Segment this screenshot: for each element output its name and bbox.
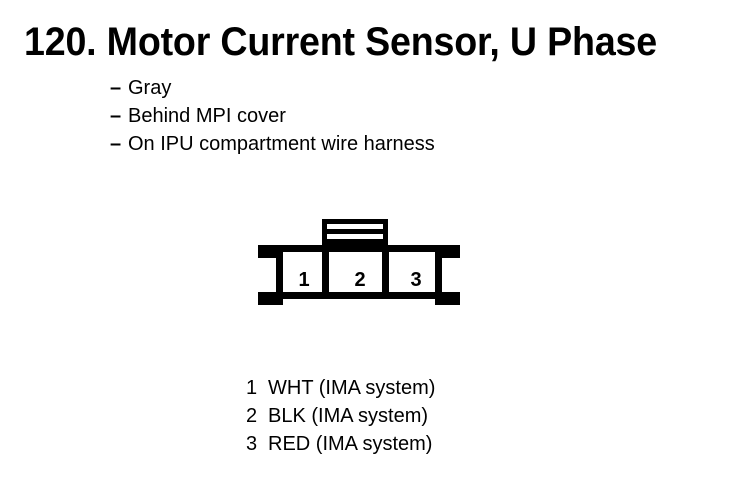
note-item: –Behind MPI cover (110, 102, 435, 130)
latch-slot (327, 234, 383, 239)
legend-pin-number: 3 (246, 430, 268, 458)
note-item-label: On IPU compartment wire harness (128, 133, 435, 155)
connector-pin-2-number: 2 (345, 270, 375, 290)
note-item: –On IPU compartment wire harness (110, 130, 435, 158)
legend-pin-number: 1 (246, 374, 268, 402)
cavity-divider (322, 245, 329, 298)
cavity-divider (382, 245, 389, 298)
wire-legend: 1WHT (IMA system) 2BLK (IMA system) 3RED… (246, 374, 435, 458)
cavity-bottom-rail (276, 292, 442, 299)
latch-tab (322, 219, 388, 245)
connector-diagram: 1 2 3 (255, 214, 463, 312)
legend-item: 2BLK (IMA system) (246, 402, 435, 430)
legend-item: 3RED (IMA system) (246, 430, 435, 458)
note-item-label: Behind MPI cover (128, 105, 286, 127)
connector-outline-drawing (255, 214, 463, 312)
connector-reference-page: 120. Motor Current Sensor, U Phase –Gray… (0, 0, 736, 498)
note-item-label: Gray (128, 77, 171, 99)
legend-wire-description: RED (IMA system) (268, 433, 432, 455)
legend-wire-description: BLK (IMA system) (268, 405, 428, 427)
connector-notes-list: –Gray –Behind MPI cover –On IPU compartm… (110, 74, 435, 158)
bullet-dash-icon: – (110, 102, 128, 130)
note-item: –Gray (110, 74, 435, 102)
page-title: 120. Motor Current Sensor, U Phase (24, 20, 657, 64)
left-foot-base (258, 299, 283, 305)
connector-pin-1-number: 1 (289, 270, 319, 290)
body-top-rail (258, 245, 460, 252)
right-foot-base (435, 299, 460, 305)
legend-wire-description: WHT (IMA system) (268, 377, 435, 399)
bullet-dash-icon: – (110, 130, 128, 158)
latch-slot (327, 224, 383, 229)
bullet-dash-icon: – (110, 74, 128, 102)
legend-pin-number: 2 (246, 402, 268, 430)
legend-item: 1WHT (IMA system) (246, 374, 435, 402)
connector-pin-3-number: 3 (401, 270, 431, 290)
